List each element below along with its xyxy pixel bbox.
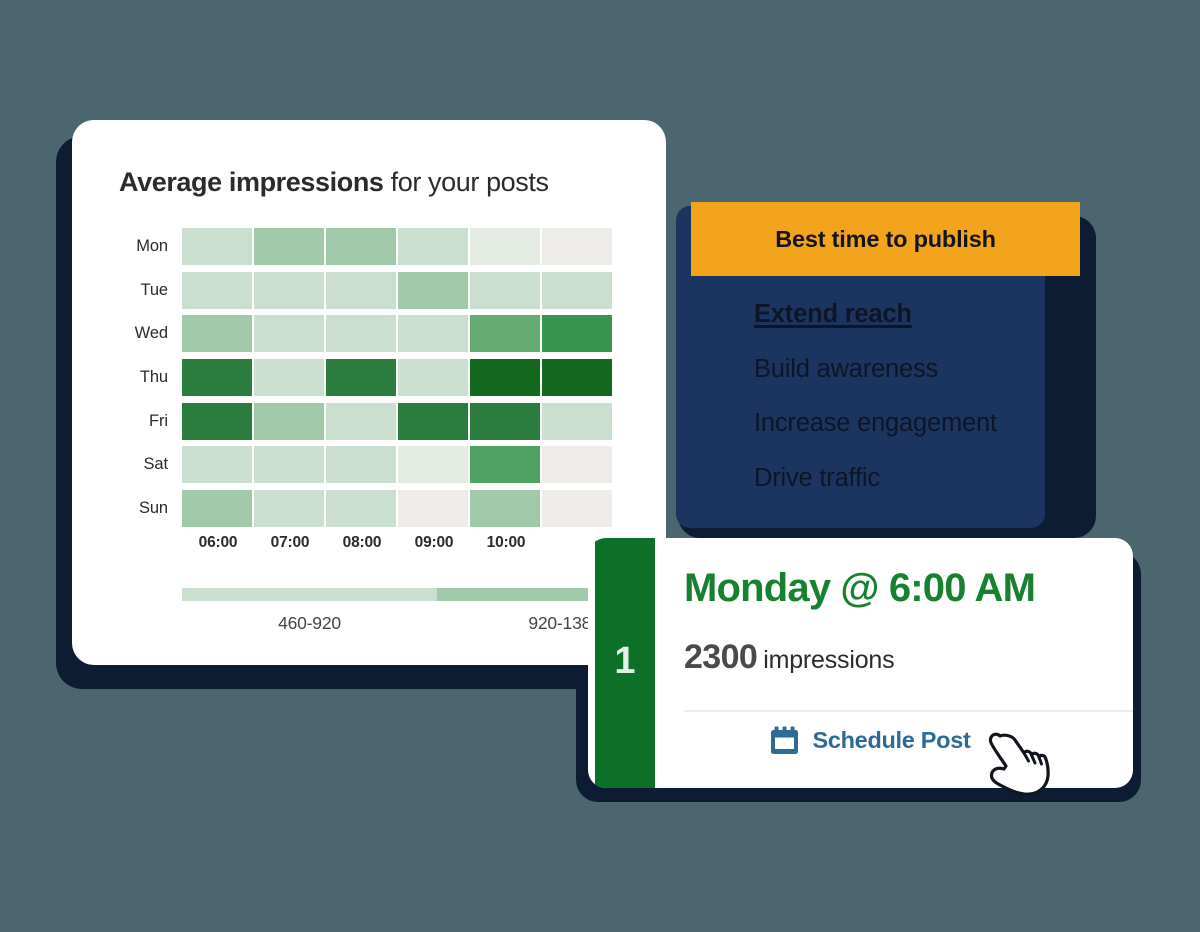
heatmap-cell[interactable] bbox=[398, 315, 468, 352]
heatmap-cell[interactable] bbox=[326, 359, 396, 396]
result-card-divider bbox=[684, 710, 1133, 712]
goal-item-drive-traffic[interactable]: Drive traffic bbox=[754, 466, 1045, 492]
best-slot-day: Monday bbox=[684, 566, 830, 610]
heatmap-cell[interactable] bbox=[254, 490, 324, 527]
heatmap-cell[interactable] bbox=[542, 315, 612, 352]
heatmap-cell[interactable] bbox=[398, 359, 468, 396]
heatmap-row: Thu bbox=[119, 356, 614, 400]
heatmap-cell[interactable] bbox=[254, 228, 324, 265]
page-title-bold: Average impressions bbox=[119, 167, 384, 197]
heatmap-cell[interactable] bbox=[182, 272, 252, 309]
heatmap-cell[interactable] bbox=[326, 315, 396, 352]
heatmap-cell[interactable] bbox=[542, 403, 612, 440]
heatmap-cell[interactable] bbox=[542, 272, 612, 309]
legend-segment bbox=[182, 588, 437, 601]
heatmap-cell[interactable] bbox=[542, 228, 612, 265]
heatmap-cell[interactable] bbox=[398, 490, 468, 527]
heatmap-cell[interactable] bbox=[182, 490, 252, 527]
heatmap-cell[interactable] bbox=[182, 359, 252, 396]
heatmap-rows: MonTueWedThuFriSatSun bbox=[119, 225, 614, 530]
heatmap-cell[interactable] bbox=[326, 403, 396, 440]
heatmap-row: Sun bbox=[119, 487, 614, 531]
heatmap-time-tick: 06:00 bbox=[182, 534, 254, 552]
best-slot-time: @ 6:00 AM bbox=[840, 566, 1035, 610]
schedule-post-label: Schedule Post bbox=[812, 727, 970, 754]
heatmap-cell[interactable] bbox=[470, 446, 540, 483]
heatmap-time-tick: 07:00 bbox=[254, 534, 326, 552]
heatmap-cell[interactable] bbox=[254, 315, 324, 352]
heatmap-day-label: Sun bbox=[119, 499, 182, 518]
heatmap-row: Tue bbox=[119, 269, 614, 313]
heatmap-cell[interactable] bbox=[254, 403, 324, 440]
heatmap-day-label: Mon bbox=[119, 237, 182, 256]
heatmap-cell[interactable] bbox=[398, 272, 468, 309]
heatmap-cell[interactable] bbox=[470, 403, 540, 440]
heatmap-day-label: Tue bbox=[119, 281, 182, 300]
heatmap-day-label: Fri bbox=[119, 412, 182, 431]
heatmap-cell[interactable] bbox=[326, 228, 396, 265]
goal-item-extend-reach[interactable]: Extend reach bbox=[754, 302, 1045, 328]
app-stage: Extend reach Build awareness Increase en… bbox=[0, 0, 1200, 932]
heatmap-cell[interactable] bbox=[182, 446, 252, 483]
heatmap-time-tick: 10:00 bbox=[470, 534, 542, 552]
heatmap-row: Wed bbox=[119, 312, 614, 356]
best-slot-headline: Monday@ 6:00 AM bbox=[684, 566, 1035, 611]
heatmap-row: Sat bbox=[119, 443, 614, 487]
heatmap-x-axis: 06:0007:0008:0009:0010:00 bbox=[119, 534, 614, 552]
impressions-metric: 2300impressions bbox=[684, 638, 894, 677]
heatmap-day-label: Wed bbox=[119, 324, 182, 343]
calendar-icon bbox=[770, 726, 800, 755]
heatmap-time-tick: 08:00 bbox=[326, 534, 398, 552]
heatmap-row: Mon bbox=[119, 225, 614, 269]
goal-item-build-awareness[interactable]: Build awareness bbox=[754, 357, 1045, 383]
heatmap-grid: MonTueWedThuFriSatSun 06:0007:0008:0009:… bbox=[119, 225, 614, 552]
heatmap-cell[interactable] bbox=[254, 272, 324, 309]
heatmap-cell[interactable] bbox=[470, 315, 540, 352]
heatmap-row: Fri bbox=[119, 399, 614, 443]
impressions-value: 2300 bbox=[684, 638, 757, 676]
page-title-light: for your posts bbox=[384, 167, 549, 197]
heatmap-cell[interactable] bbox=[182, 228, 252, 265]
heatmap-cell[interactable] bbox=[542, 359, 612, 396]
rank-number: 1 bbox=[614, 642, 635, 680]
result-card: 1 Monday@ 6:00 AM 2300impressions Schedu… bbox=[588, 538, 1133, 788]
heatmap-cell[interactable] bbox=[470, 359, 540, 396]
heatmap-cell[interactable] bbox=[398, 446, 468, 483]
heatmap-time-tick: 09:00 bbox=[398, 534, 470, 552]
impressions-unit: impressions bbox=[763, 646, 894, 674]
heatmap-cell[interactable] bbox=[542, 446, 612, 483]
heatmap-cell[interactable] bbox=[254, 446, 324, 483]
heatmap-cell[interactable] bbox=[182, 403, 252, 440]
heatmap-cell[interactable] bbox=[470, 272, 540, 309]
heatmap-cell[interactable] bbox=[470, 228, 540, 265]
heatmap-cell[interactable] bbox=[542, 490, 612, 527]
heatmap-cell[interactable] bbox=[182, 315, 252, 352]
page-title: Average impressions for your posts bbox=[119, 167, 549, 198]
best-time-to-publish-label: Best time to publish bbox=[775, 226, 996, 253]
best-time-to-publish-header[interactable]: Best time to publish bbox=[691, 202, 1080, 276]
heatmap-day-label: Sat bbox=[119, 455, 182, 474]
heatmap-day-label: Thu bbox=[119, 368, 182, 387]
heatmap-cell[interactable] bbox=[326, 490, 396, 527]
schedule-post-button[interactable]: Schedule Post bbox=[588, 726, 1133, 755]
heatmap-cell[interactable] bbox=[326, 446, 396, 483]
heatmap-cell[interactable] bbox=[398, 228, 468, 265]
heatmap-cell[interactable] bbox=[326, 272, 396, 309]
goal-item-increase-engagement[interactable]: Increase engagement bbox=[754, 411, 1045, 437]
heatmap-cell[interactable] bbox=[254, 359, 324, 396]
heatmap-cell[interactable] bbox=[470, 490, 540, 527]
heatmap-card: Average impressions for your posts MonTu… bbox=[72, 120, 666, 665]
legend-bin-label: 460-920 bbox=[182, 613, 437, 634]
heatmap-cell[interactable] bbox=[398, 403, 468, 440]
